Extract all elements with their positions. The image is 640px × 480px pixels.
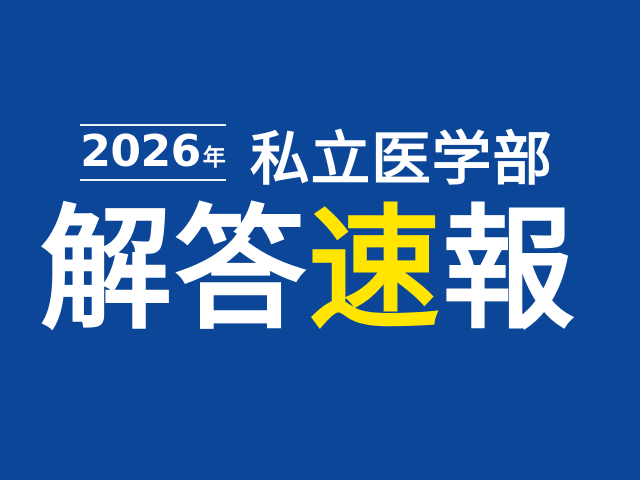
headline-char-hou: 報 <box>442 203 576 337</box>
year-suffix-kanji: 年 <box>203 147 226 170</box>
promo-banner: 2026年 私立医学部 解 答 速 報 <box>0 0 640 480</box>
year-number: 2026 <box>80 130 200 174</box>
banner-upper-row: 2026年 私立医学部 <box>0 112 640 192</box>
headline-char-soku: 速 <box>308 203 442 337</box>
year-label: 2026年 <box>80 126 226 178</box>
year-block: 2026年 <box>80 112 226 192</box>
year-rule-bottom <box>80 179 226 181</box>
subject-title: 私立医学部 <box>250 126 553 192</box>
headline-char-kai: 解 <box>40 203 174 337</box>
headline-title: 解 答 速 報 <box>40 196 598 344</box>
headline-char-tou: 答 <box>174 203 308 337</box>
